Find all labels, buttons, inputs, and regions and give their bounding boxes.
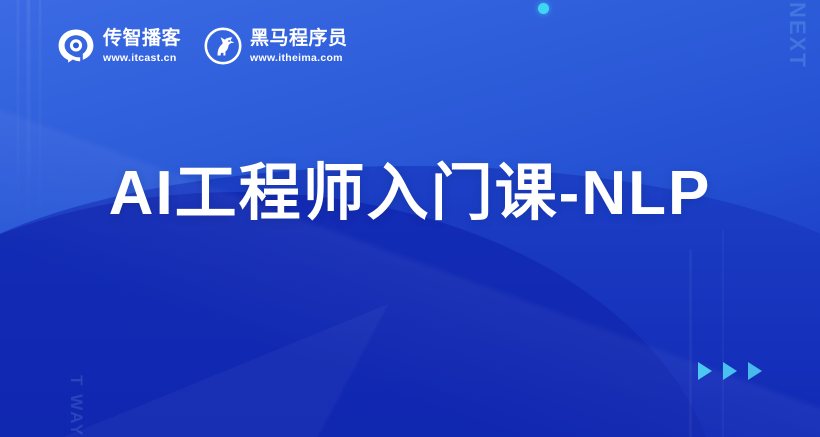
course-banner: NEXT T WAY 传智播客 www.itcast.cn bbox=[0, 0, 820, 437]
accent-dot bbox=[538, 3, 549, 14]
background-vertical-line-right bbox=[689, 250, 692, 437]
itcast-logo-text: 传智播客 www.itcast.cn bbox=[103, 29, 181, 64]
page-title: AI工程师入门课-NLP bbox=[0, 160, 820, 228]
itcast-logo-icon bbox=[56, 26, 96, 66]
itheima-logo-url: www.itheima.com bbox=[250, 53, 348, 64]
itcast-logo-name: 传智播客 bbox=[103, 29, 181, 48]
play-arrow-icon bbox=[698, 362, 712, 380]
itheima-horse-logo-icon bbox=[203, 26, 243, 66]
play-arrow-icon bbox=[723, 362, 737, 380]
itheima-logo-text: 黑马程序员 www.itheima.com bbox=[250, 29, 348, 64]
logo-bar: 传智播客 www.itcast.cn 黑马程序员 www.itheima.com bbox=[56, 26, 348, 66]
logo-itcast: 传智播客 www.itcast.cn bbox=[56, 26, 181, 66]
logo-itheima: 黑马程序员 www.itheima.com bbox=[203, 26, 348, 66]
watermark-next: NEXT bbox=[784, 2, 810, 69]
watermark-way: T WAY bbox=[66, 375, 86, 437]
background-vertical-line-right-secondary bbox=[722, 230, 724, 437]
itheima-logo-name: 黑马程序员 bbox=[250, 29, 348, 48]
play-arrow-icon bbox=[748, 362, 762, 380]
arrow-indicator-group bbox=[698, 362, 762, 380]
itcast-logo-url: www.itcast.cn bbox=[103, 53, 181, 64]
